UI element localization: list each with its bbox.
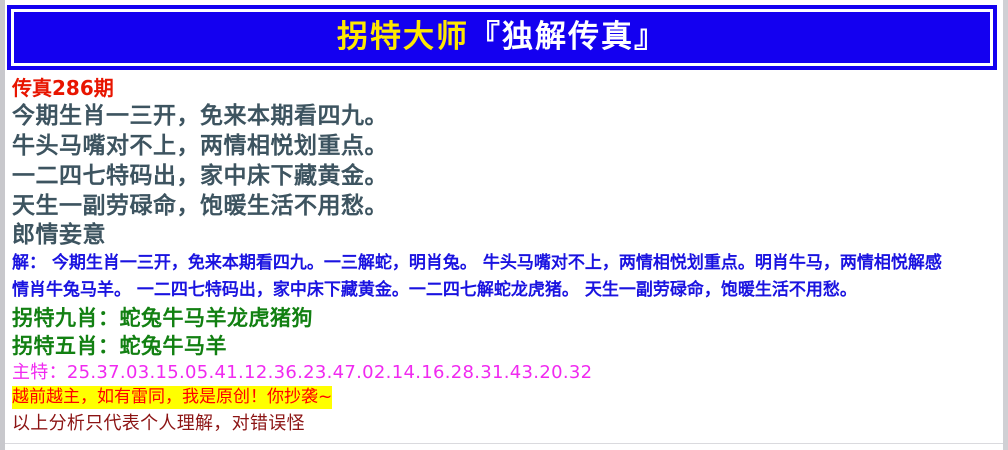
- originality-claim-row: 越前越主，如有雷同，我是原创！你抄袭~: [12, 386, 1002, 409]
- disclaimer-text: 以上分析只代表个人理解，对错误怪: [12, 409, 1002, 439]
- zodiac-nine-label: 拐特九肖：: [12, 306, 120, 330]
- page-content-area: 拐特大师『独解传真』 传真286期 今期生肖一三开，免来本期看四九。 牛头马嘴对…: [5, 0, 1003, 450]
- page-title-highlight: 拐特大师: [337, 19, 469, 55]
- poem-line-1: 今期生肖一三开，免来本期看四九。: [12, 101, 1002, 131]
- page-title-rest: 『独解传真』: [469, 19, 667, 55]
- analysis-line-2: 情肖牛兔马羊。 一二四七特码出，家中床下藏黄金。一二四七解蛇龙虎猪。 天生一副劳…: [12, 277, 1002, 304]
- poem-line-3: 一二四七特码出，家中床下藏黄金。: [12, 161, 1002, 191]
- header-banner: 拐特大师『独解传真』: [7, 5, 997, 70]
- issue-label: 传真286期: [12, 76, 1002, 101]
- zodiac-five-value: 蛇兔牛马羊: [120, 334, 228, 358]
- zodiac-five-row: 拐特五肖：蛇兔牛马羊: [12, 332, 1002, 360]
- zodiac-five-label: 拐特五肖：: [12, 334, 120, 358]
- analysis-line-1: 解： 今期生肖一三开，免来本期看四九。一三解蛇，明肖兔。 牛头马嘴对不上，两情相…: [12, 250, 1002, 277]
- zodiac-nine-row: 拐特九肖：蛇兔牛马羊龙虎猪狗: [12, 304, 1002, 332]
- poem-mood-line: 郎情妾意: [12, 221, 1002, 250]
- originality-claim-text: 越前越主，如有雷同，我是原创！你抄袭~: [12, 386, 332, 409]
- poem-line-4: 天生一副劳碌命，饱暖生活不用愁。: [12, 191, 1002, 221]
- article-body: 传真286期 今期生肖一三开，免来本期看四九。 牛头马嘴对不上，两情相悦划重点。…: [12, 76, 1002, 439]
- poem-line-2: 牛头马嘴对不上，两情相悦划重点。: [12, 131, 1002, 161]
- bottom-divider: [5, 443, 1003, 444]
- header-banner-inner-frame: 拐特大师『独解传真』: [11, 9, 993, 66]
- page-root: 拐特大师『独解传真』 传真286期 今期生肖一三开，免来本期看四九。 牛头马嘴对…: [0, 0, 1008, 450]
- main-numbers-label: 主特：: [12, 362, 67, 383]
- zodiac-nine-value: 蛇兔牛马羊龙虎猪狗: [120, 306, 314, 330]
- page-title: 拐特大师『独解传真』: [337, 22, 667, 53]
- main-numbers-row: 主特：25.37.03.15.05.41.12.36.23.47.02.14.1…: [12, 360, 1002, 386]
- right-edge-gutter: [1003, 0, 1008, 450]
- main-numbers-value: 25.37.03.15.05.41.12.36.23.47.02.14.16.2…: [67, 362, 592, 383]
